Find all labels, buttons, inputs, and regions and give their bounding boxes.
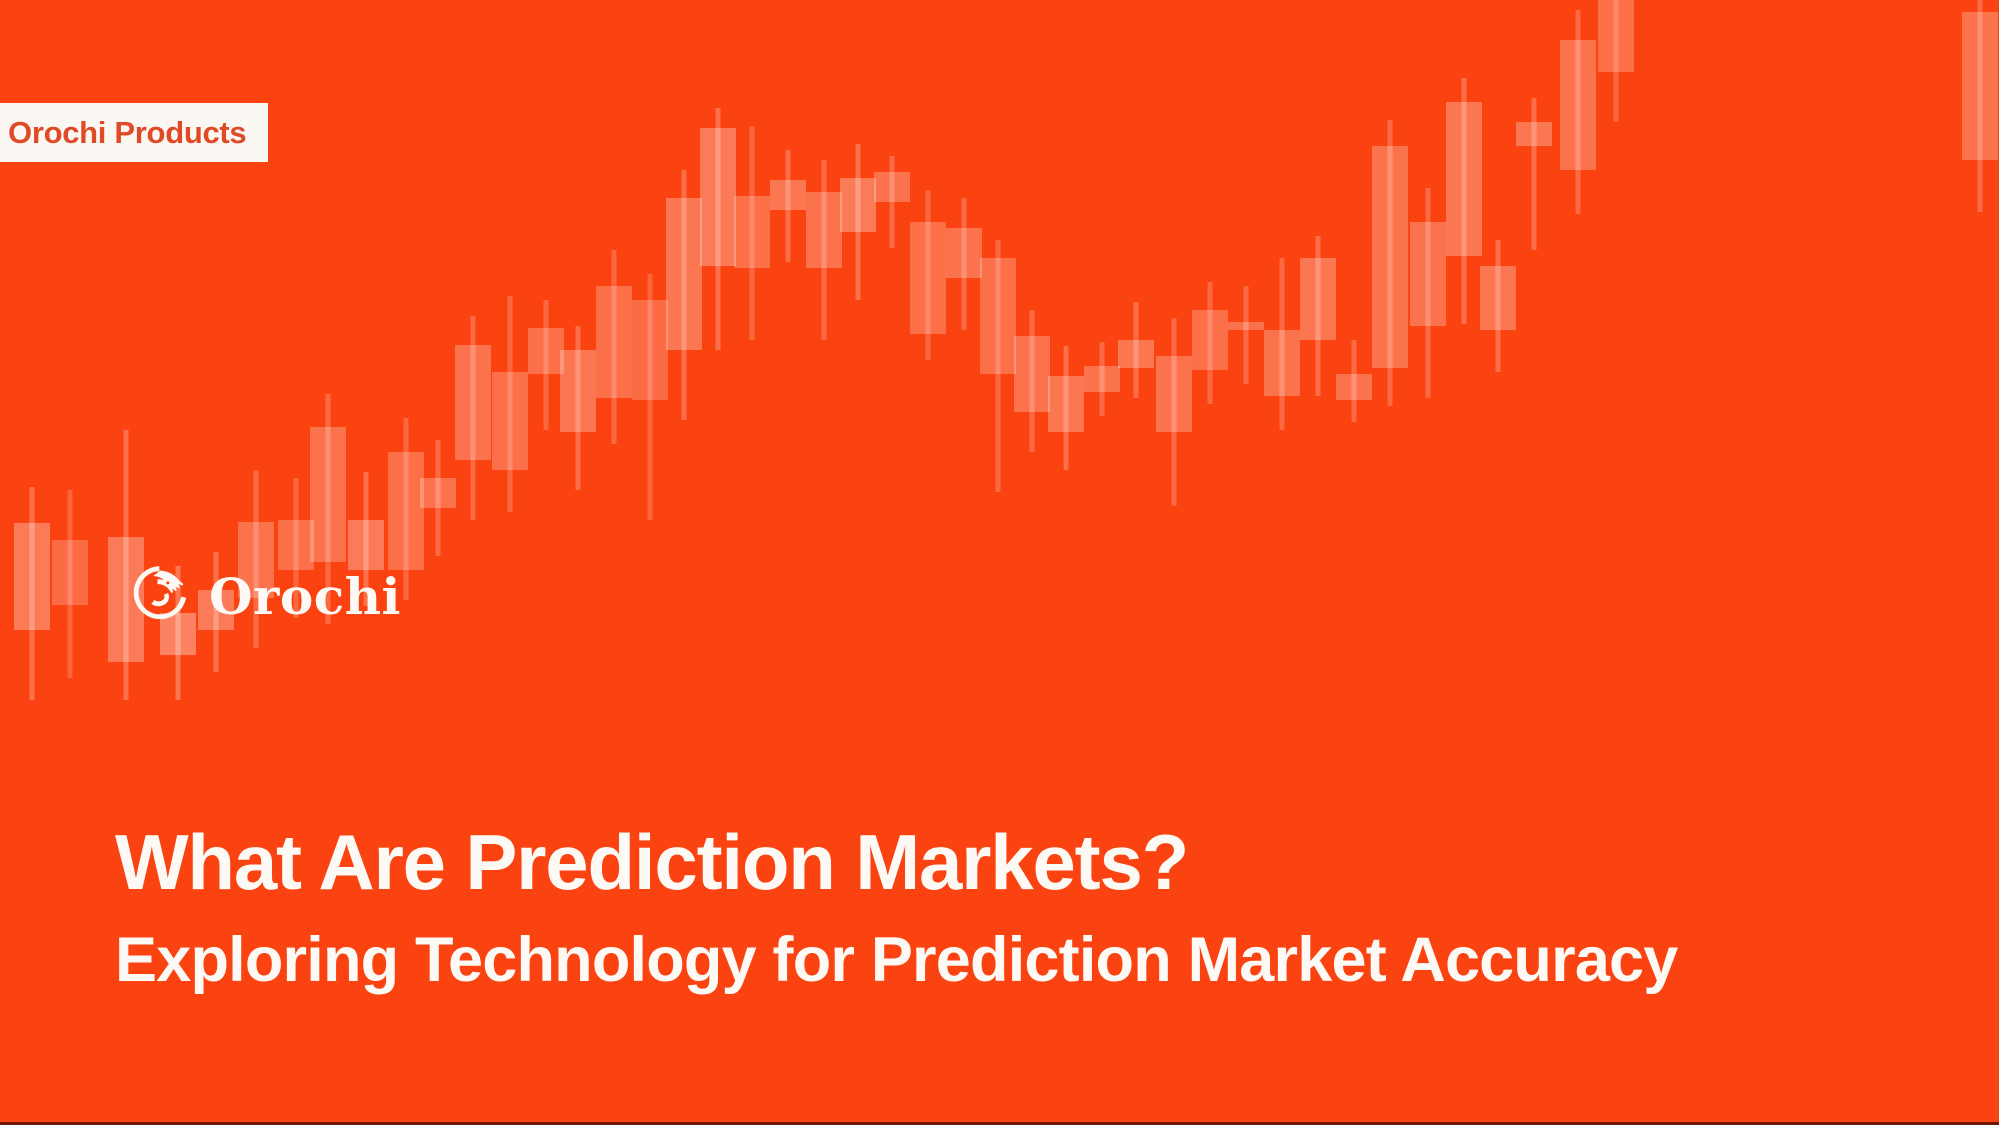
eyebrow-badge-label: Orochi Products xyxy=(8,117,246,148)
candle-body xyxy=(1300,258,1336,340)
candle-body xyxy=(910,222,946,334)
candle-body xyxy=(1228,322,1264,330)
candle-body xyxy=(770,180,806,210)
candle-body xyxy=(1048,376,1084,432)
candle-body xyxy=(310,427,346,562)
candle-body xyxy=(700,128,736,266)
eyebrow-badge: Orochi Products xyxy=(0,103,268,162)
brand-logo-lockup: Orochi xyxy=(126,562,401,628)
candle-body xyxy=(632,300,668,400)
candle-body xyxy=(1560,40,1596,170)
candle-body xyxy=(874,172,910,202)
candle-body xyxy=(946,228,982,278)
candle-body xyxy=(1156,356,1192,432)
candle-body xyxy=(1084,366,1120,392)
candle-body xyxy=(1014,336,1050,412)
candle-wick xyxy=(1244,286,1249,384)
candle-body xyxy=(734,196,770,268)
candle-body xyxy=(1598,0,1634,72)
candle-body xyxy=(596,286,632,398)
candle-body xyxy=(528,328,564,374)
candle-body xyxy=(1516,122,1552,146)
candle-body xyxy=(1410,222,1446,326)
candle-body xyxy=(420,478,456,508)
candle-body xyxy=(52,540,88,605)
orochi-dragon-circle-logo xyxy=(126,562,192,628)
candle-body xyxy=(1264,330,1300,396)
candle-body xyxy=(1336,374,1372,400)
candle-wick xyxy=(1532,98,1537,250)
candle-body xyxy=(666,198,702,350)
candle-body xyxy=(1372,146,1408,368)
headline-block: What Are Prediction Markets? Exploring T… xyxy=(115,820,1915,994)
candle-body xyxy=(1118,340,1154,368)
candle-body xyxy=(980,258,1016,374)
candle-body xyxy=(492,372,528,470)
candle-body xyxy=(806,192,842,268)
page-subtitle: Exploring Technology for Prediction Mark… xyxy=(115,926,1915,994)
candle-body xyxy=(455,345,491,460)
page-title: What Are Prediction Markets? xyxy=(115,820,1915,904)
candle-body xyxy=(840,178,876,232)
candle-body xyxy=(1192,310,1228,370)
candle-body xyxy=(388,452,424,570)
candle-body xyxy=(560,350,596,432)
candle-body xyxy=(1480,266,1516,330)
candle-body xyxy=(1446,102,1482,256)
orochi-wordmark: Orochi xyxy=(209,572,401,622)
candle-body xyxy=(14,523,50,630)
slide-canvas: Orochi Products Orochi What Are Predicti… xyxy=(0,0,1999,1125)
candle-body xyxy=(1962,12,1998,160)
